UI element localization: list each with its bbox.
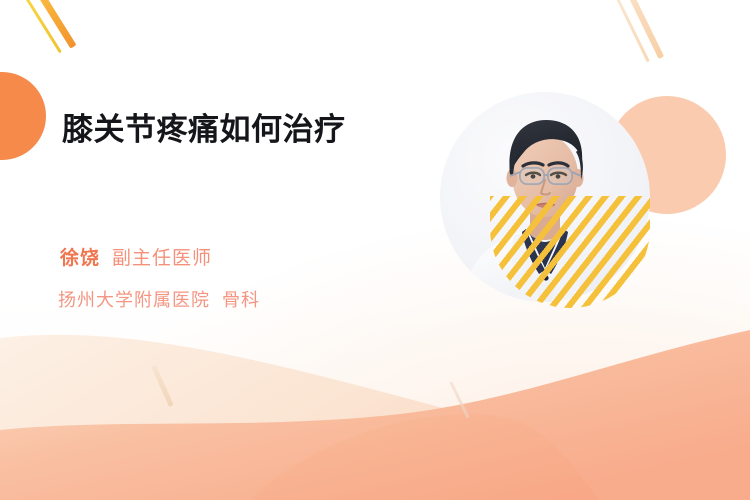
article-cover-card: 膝关节疼痛如何治疗 徐饶副主任医师 扬州大学附属医院骨科: [0, 0, 750, 500]
author-byline: 徐饶副主任医师: [60, 246, 212, 273]
page-title: 膝关节疼痛如何治疗: [62, 110, 412, 150]
author-department: 骨科: [222, 290, 260, 310]
author-hospital: 扬州大学附属医院: [58, 290, 210, 310]
top-right-stripe-thin-icon: [609, 0, 649, 62]
author-name: 徐饶: [60, 248, 100, 269]
author-rank: 副主任医师: [112, 248, 212, 269]
top-left-stripe-thin-icon: [21, 0, 62, 53]
top-left-orange-circle-icon: [0, 72, 46, 160]
bottom-wave-decoration: [0, 310, 750, 500]
yellow-striped-fan-icon: [490, 196, 650, 308]
